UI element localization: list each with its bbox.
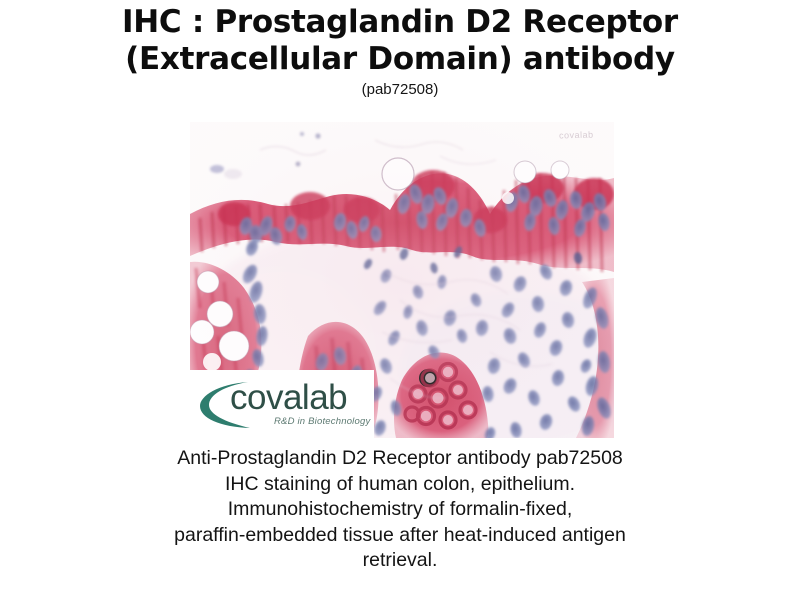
caption-line-2: IHC staining of human colon, epithelium.	[0, 472, 800, 498]
page-title-line-1: IHC : Prostaglandin D2 Receptor	[0, 4, 800, 41]
logo-tagline: R&D in Biotechnology	[274, 416, 370, 427]
page-title-line-2: (Extracellular Domain) antibody	[0, 41, 800, 78]
caption-line-4: paraffin-embedded tissue after heat-indu…	[0, 523, 800, 549]
title-block: IHC : Prostaglandin D2 Receptor (Extrace…	[0, 0, 800, 99]
catalog-number: (pab72508)	[0, 80, 800, 99]
caption-line-5: retrieval.	[0, 548, 800, 574]
caption-line-3: Immunohistochemistry of formalin-fixed,	[0, 497, 800, 523]
figure-caption: Anti-Prostaglandin D2 Receptor antibody …	[0, 446, 800, 574]
logo-wordmark: covalab	[230, 380, 347, 415]
caption-line-1: Anti-Prostaglandin D2 Receptor antibody …	[0, 446, 800, 472]
covalab-logo: covalab R&D in Biotechnology	[190, 370, 374, 438]
figure-container: covalab covalab R&D in Biotechnology	[190, 122, 614, 438]
micrograph-watermark: covalab	[559, 130, 594, 141]
